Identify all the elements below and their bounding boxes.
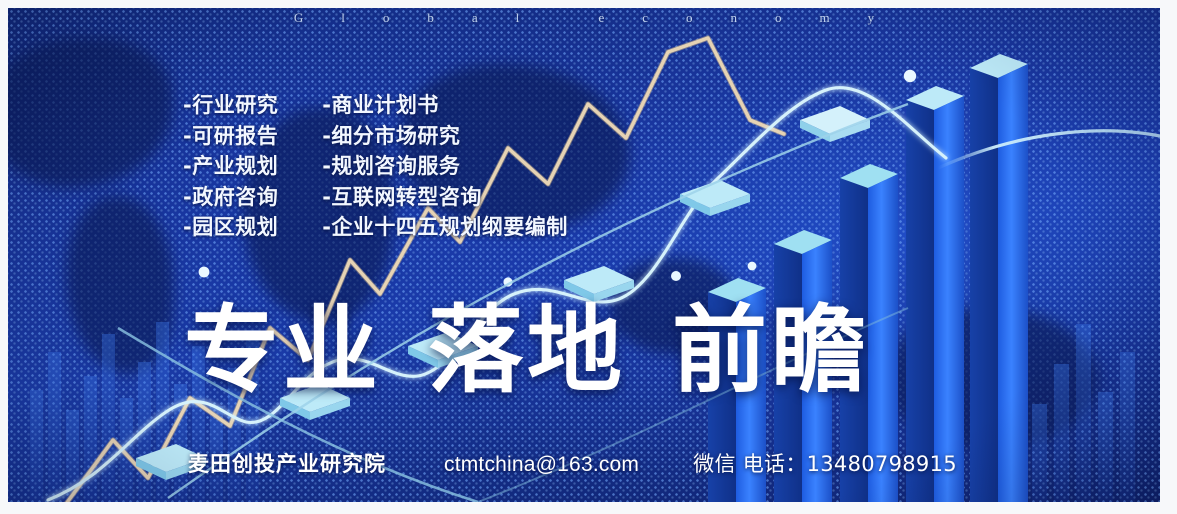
organization-name: 麦田创投产业研究院 [188,448,386,478]
marketing-banner: Global economy -行业研究 -可研报告 -产业规划 -政府咨询 -… [0,0,1177,514]
service-item[interactable]: -政府咨询 [183,182,278,213]
headline-word-3: 前瞻 [672,304,870,399]
headline-word-1: 专业 [184,304,382,399]
service-item[interactable]: -产业规划 [183,151,278,182]
service-item[interactable]: -可研报告 [183,121,278,152]
service-item[interactable]: -细分市场研究 [322,121,568,152]
node-marker [671,271,681,281]
contact-phone[interactable]: 微信 电话：13480798915 [693,448,957,478]
node-marker [904,70,916,82]
service-column-right: -商业计划书 -细分市场研究 -规划咨询服务 -互联网转型咨询 -企业十四五规划… [322,90,568,243]
service-item[interactable]: -行业研究 [183,90,278,121]
node-marker [748,262,757,271]
service-column-left: -行业研究 -可研报告 -产业规划 -政府咨询 -园区规划 [183,90,278,243]
service-item[interactable]: -企业十四五规划纲要编制 [322,212,568,243]
service-item[interactable]: -规划咨询服务 [322,151,568,182]
email-address[interactable]: ctmtchina@163.com [444,453,639,477]
node-marker [199,267,210,278]
service-list: -行业研究 -可研报告 -产业规划 -政府咨询 -园区规划 -商业计划书 -细分… [183,90,568,243]
diamond-marker [800,106,870,142]
service-item[interactable]: -互联网转型咨询 [322,182,568,213]
growth-chart-graphics [8,8,1160,502]
service-item[interactable]: -园区规划 [183,212,278,243]
banner-artwork-plate: Global economy -行业研究 -可研报告 -产业规划 -政府咨询 -… [8,8,1160,502]
footer-contact-bar: 麦田创投产业研究院 ctmtchina@163.com 微信 电话：134807… [188,448,957,478]
service-item[interactable]: -商业计划书 [322,90,568,121]
headline: 专业 落地 前瞻 [184,304,870,399]
top-tagline: Global economy [8,10,1160,26]
headline-word-2: 落地 [428,304,626,399]
